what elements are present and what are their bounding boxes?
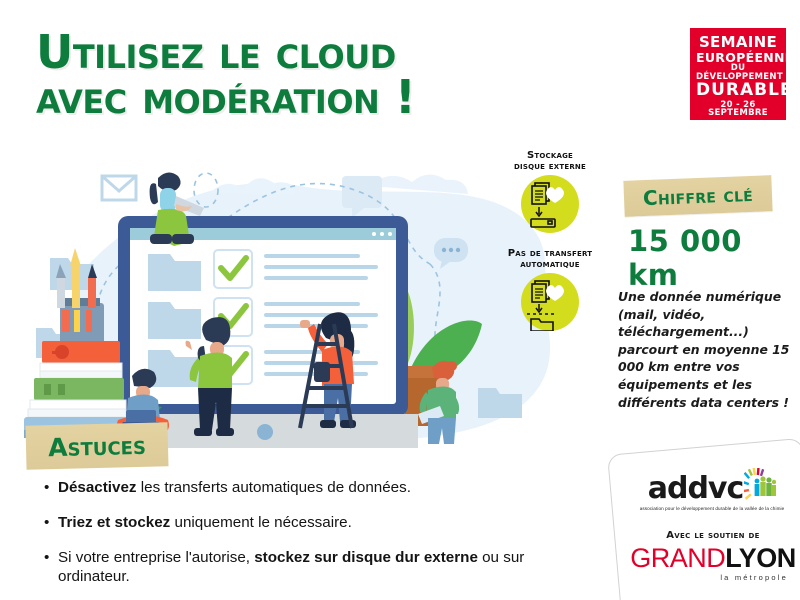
addvc-tagline: association pour le développement durabl… xyxy=(632,506,792,512)
tip-rest: les transferts automatiques de données. xyxy=(137,479,411,496)
list-item: • Désactivez les transferts automatiques… xyxy=(44,478,574,498)
envelope-icon xyxy=(102,176,136,200)
sedd-badge: SEMAINE EUROPÉENNE DU DÉVELOPPEMENT DURA… xyxy=(690,28,786,120)
tips-banner: Astuces xyxy=(25,422,168,469)
title-line-1: Utilisez le cloud xyxy=(36,30,556,75)
pencils xyxy=(56,248,97,308)
badge-circle xyxy=(521,273,579,331)
tip-emphasis: stockez sur disque dur externe xyxy=(254,549,478,566)
bullet-icon: • xyxy=(44,548,58,588)
tip-emphasis: Désactivez xyxy=(58,479,137,496)
grandlyon-first: GRAND xyxy=(630,543,725,573)
support-label: Avec le soutien de xyxy=(634,530,792,541)
tip-text: Triez et stockez uniquement le nécessair… xyxy=(58,513,352,533)
addvc-logo: addvc xyxy=(632,468,792,512)
sedd-line-1: SEMAINE xyxy=(696,35,780,51)
tips-list: • Désactivez les transferts automatiques… xyxy=(44,478,574,600)
bullet-icon: • xyxy=(44,478,58,498)
grandlyon-logo: GRANDLYON la métropole xyxy=(630,545,796,582)
badge-caption: Pas de transfert automatique xyxy=(490,248,610,270)
tip-text: Désactivez les transferts automatiques d… xyxy=(58,478,411,498)
tips-banner-label: Astuces xyxy=(25,422,168,469)
badge-external-storage: Stockage disque externe xyxy=(490,150,610,233)
poster-root: Utilisez le cloud avec modération ! SEMA… xyxy=(0,0,800,600)
tip-emphasis: Triez et stockez xyxy=(58,514,170,531)
tip-lead: Si votre entreprise l'autorise, xyxy=(58,549,254,566)
tip-rest: uniquement le nécessaire. xyxy=(170,514,352,531)
badge-no-auto-transfer: Pas de transfert automatique xyxy=(490,248,610,331)
grandlyon-subtitle: la métropole xyxy=(630,573,796,582)
key-figure-value: 15 000 km xyxy=(628,224,800,292)
badge-circle xyxy=(521,175,579,233)
sedd-line-5: 20 - 26 SEPTEMBRE xyxy=(696,101,780,119)
list-item: • Triez et stockez uniquement le nécessa… xyxy=(44,513,574,533)
grandlyon-second: LYON xyxy=(725,543,796,573)
bullet-icon: • xyxy=(44,513,58,533)
people-colorful-icon xyxy=(744,468,776,502)
addvc-wordmark: addvc xyxy=(648,474,744,504)
key-figure-banner-label: Chiffre clé xyxy=(623,175,772,217)
sedd-line-2: EUROPÉENNE xyxy=(696,51,780,64)
tip-text: Si votre entreprise l'autorise, stockez … xyxy=(58,548,574,588)
list-item: • Si votre entreprise l'autorise, stocke… xyxy=(44,548,574,588)
key-figure-banner: Chiffre clé xyxy=(623,175,772,217)
sedd-line-4: DURABLE xyxy=(696,82,780,100)
page-title: Utilisez le cloud avec modération ! xyxy=(36,30,556,120)
key-figure-description: Une donnée numérique (mail, vidéo, téléc… xyxy=(618,288,798,411)
badge-caption: Stockage disque externe xyxy=(490,150,610,172)
title-line-2: avec modération ! xyxy=(36,75,556,120)
